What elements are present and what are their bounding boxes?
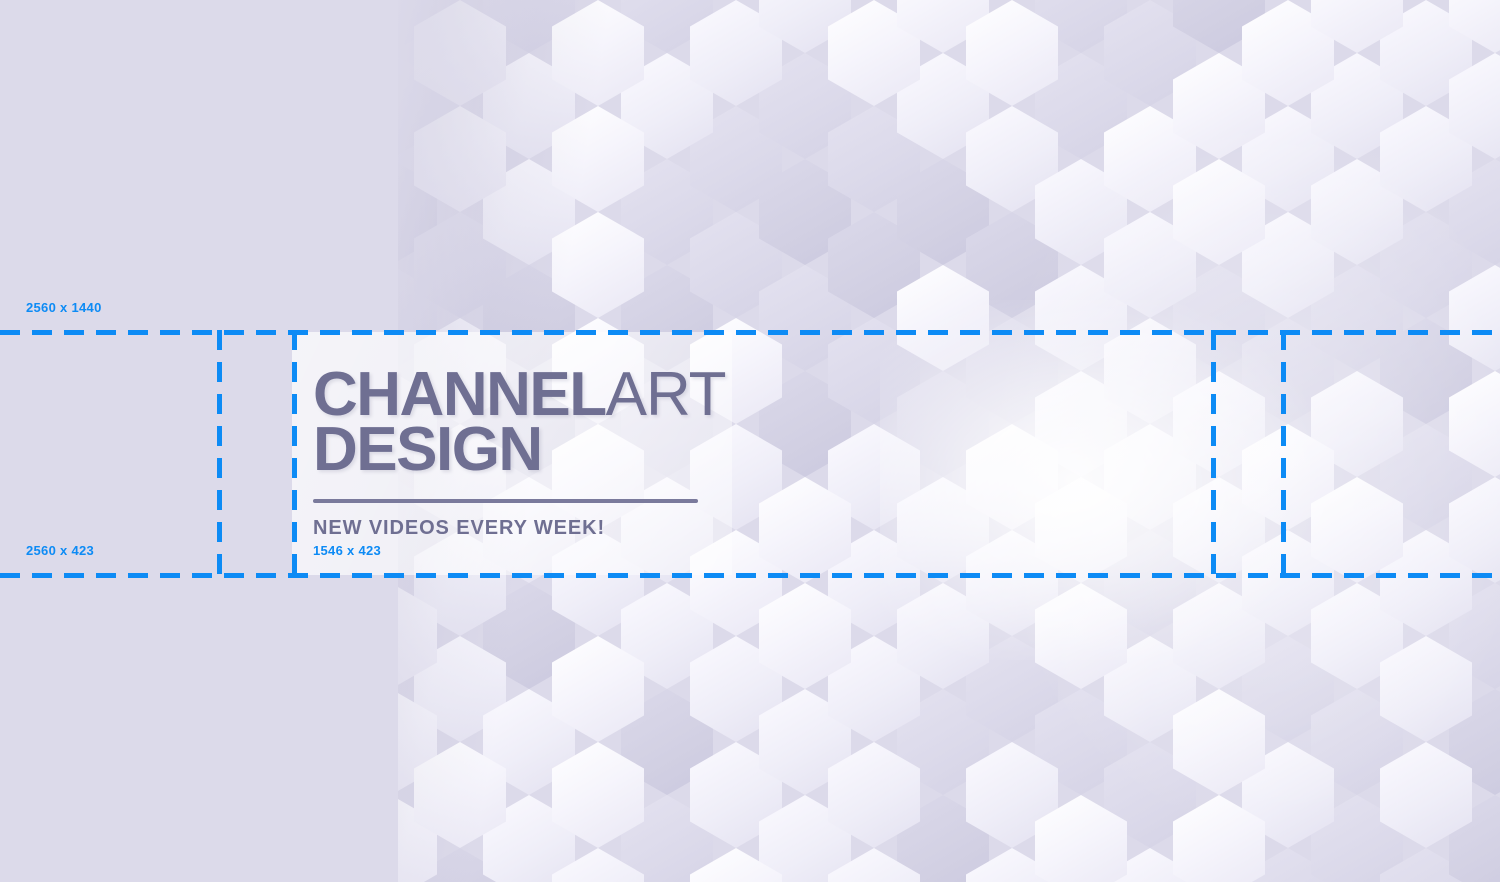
dimension-label-full-canvas: 2560 x 1440 xyxy=(26,300,102,315)
guide-line-right-outer-vertical xyxy=(1281,330,1286,578)
dimension-label-tv-safe: 2560 x 423 xyxy=(26,543,94,558)
artwork-text-block: CHANNELART DESIGN NEW VIDEOS EVERY WEEK! xyxy=(313,368,726,540)
guide-line-top-horizontal xyxy=(0,330,1500,335)
tagline-text: NEW VIDEOS EVERY WEEK! xyxy=(313,517,726,540)
guide-line-left-outer-vertical xyxy=(217,330,222,578)
divider-rule xyxy=(313,499,698,503)
guide-line-right-inner-vertical xyxy=(1211,330,1216,578)
dimension-label-desktop-safe: 1546 x 423 xyxy=(313,543,381,558)
hexagon-pattern-background xyxy=(0,0,1500,882)
guide-line-bottom-horizontal xyxy=(0,573,1500,578)
channel-art-canvas: CHANNELART DESIGN NEW VIDEOS EVERY WEEK!… xyxy=(0,0,1500,882)
headline-line-2: DESIGN xyxy=(313,423,726,476)
guide-line-left-inner-vertical xyxy=(292,330,297,578)
headline-line-1: CHANNELART xyxy=(313,368,726,421)
headline-word-art: ART xyxy=(606,360,726,429)
